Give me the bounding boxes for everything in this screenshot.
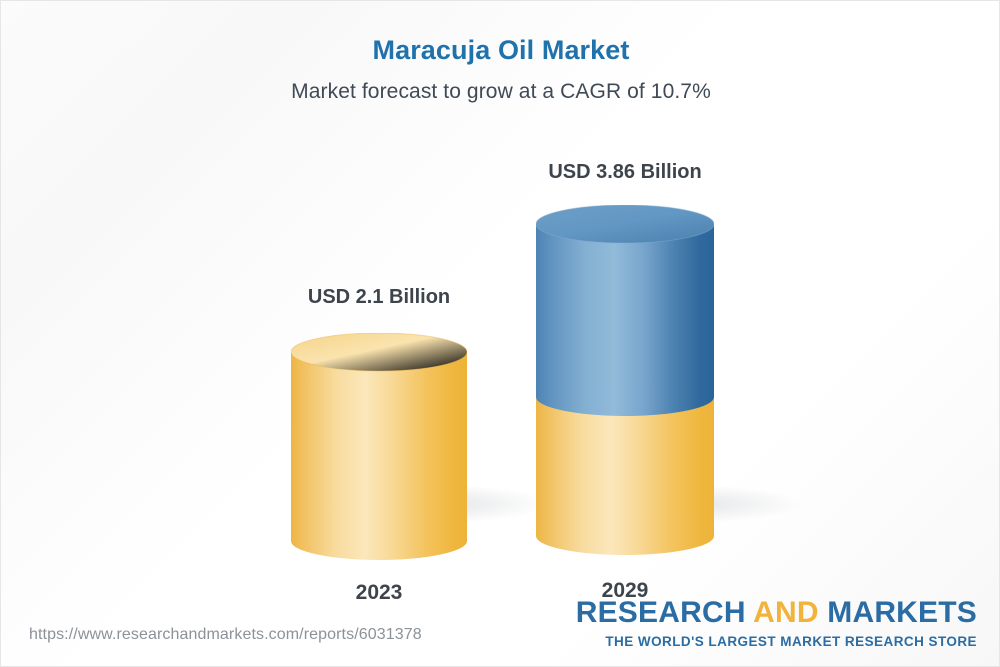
brand-logo[interactable]: RESEARCH AND MARKETS THE WORLD'S LARGEST… <box>576 598 977 649</box>
brand-word-and: AND <box>746 596 828 629</box>
source-url[interactable]: https://www.researchandmarkets.com/repor… <box>29 626 422 644</box>
bar-value-label-2023: USD 2.1 Billion <box>308 286 450 309</box>
chart-plot-area: USD 2.1 Billion <box>1 1 1000 667</box>
brand-word-markets: MARKETS <box>827 596 977 629</box>
cylinder-2029[interactable] <box>536 205 714 555</box>
brand-logo-title: RESEARCH AND MARKETS <box>576 598 977 628</box>
cylinder-2023[interactable] <box>291 333 467 560</box>
infographic-canvas: Maracuja Oil Market Market forecast to g… <box>0 0 1000 667</box>
brand-word-research: RESEARCH <box>576 596 746 629</box>
cylinder-shadows <box>1 1 1000 667</box>
bar-category-label-2023: 2023 <box>356 581 403 605</box>
brand-tagline: THE WORLD'S LARGEST MARKET RESEARCH STOR… <box>576 635 977 649</box>
bar-value-label-2029: USD 3.86 Billion <box>548 161 701 184</box>
